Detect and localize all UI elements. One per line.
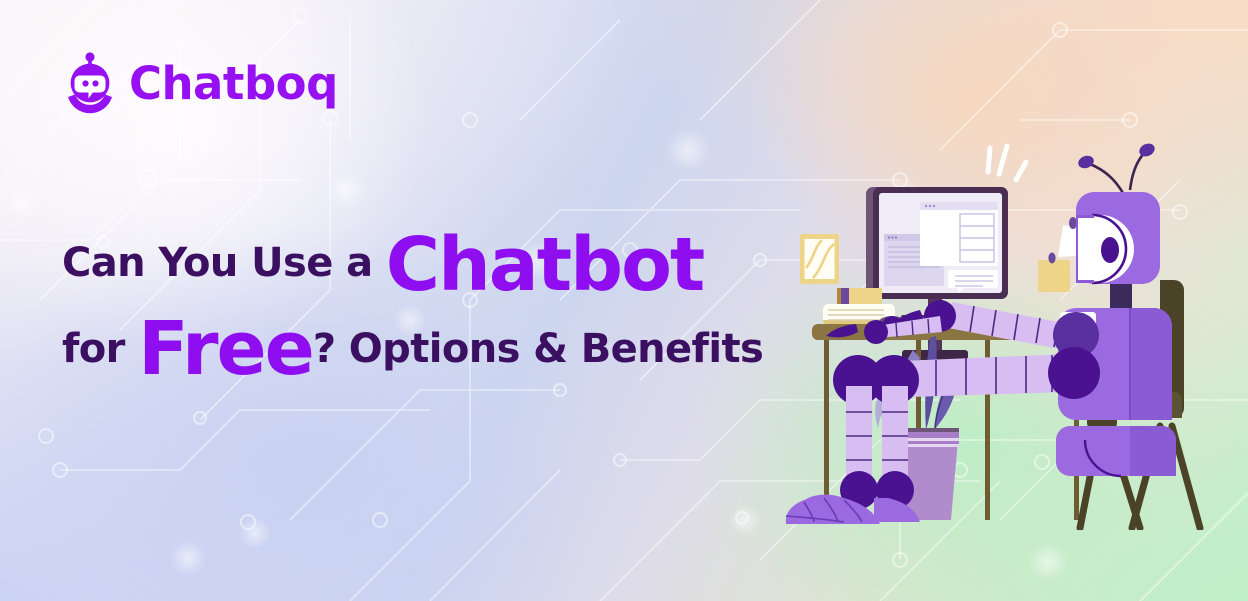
headline-part-plain-2: for bbox=[62, 326, 138, 372]
wall-picture-frame bbox=[800, 234, 839, 284]
sticky-note-yellow bbox=[1038, 253, 1070, 293]
chatboq-robot-icon bbox=[64, 52, 116, 114]
headline-part-emphasis-chatbot: Chatbot bbox=[386, 222, 703, 308]
robot-antennae bbox=[1090, 152, 1145, 193]
robot-at-desk-illustration bbox=[780, 130, 1240, 530]
headline-part-emphasis-free: Free bbox=[138, 306, 313, 392]
headline-line-2: for Free? Options & Benefits bbox=[62, 312, 722, 386]
headline-part-plain-3: ? Options & Benefits bbox=[313, 326, 763, 372]
spark-lines bbox=[988, 146, 1026, 180]
banner: Chatboq Can You Use a Chatbot for Free? … bbox=[0, 0, 1248, 601]
logo[interactable]: Chatboq bbox=[64, 52, 338, 114]
headline-line-1: Can You Use a Chatbot bbox=[62, 228, 722, 302]
logo-wordmark: Chatboq bbox=[129, 61, 338, 106]
headline-part-plain-1: Can You Use a bbox=[62, 240, 386, 286]
page-title: Can You Use a Chatbot for Free? Options … bbox=[62, 228, 722, 386]
